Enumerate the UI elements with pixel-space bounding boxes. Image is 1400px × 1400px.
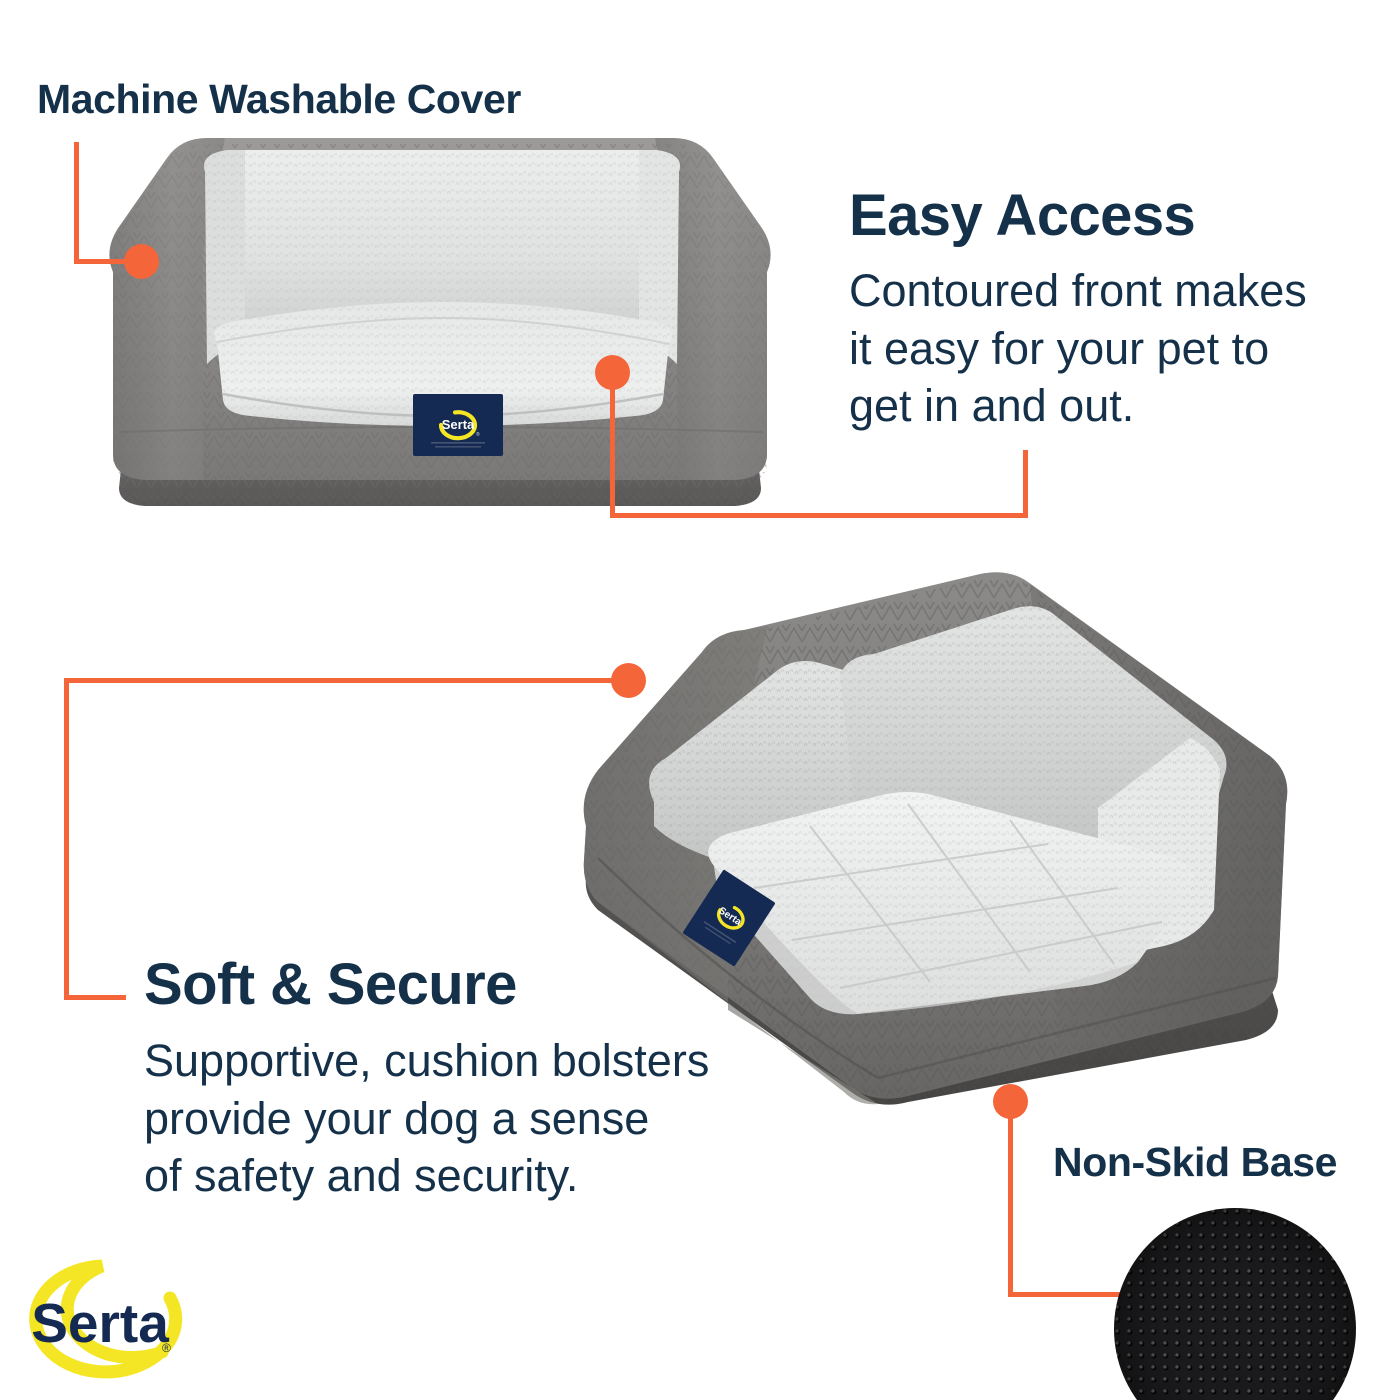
feature-title-soft-secure: Soft & Secure [144,955,517,1016]
infographic-canvas: Serta ® [0,0,1400,1400]
connector-easy-access-vertical-left [610,372,615,518]
feature-body-soft-secure: Supportive, cushion bolsters provide you… [144,1032,709,1205]
feature-body-line: of safety and security. [144,1147,709,1205]
connector-easy-access-horizontal [610,513,1028,518]
feature-title-machine-washable: Machine Washable Cover [37,78,521,121]
serta-product-tag-top: Serta ® [413,394,503,456]
connector-soft-secure-horizontal-bottom [64,995,126,1000]
feature-body-line: it easy for your pet to [849,320,1307,378]
serta-logo-wordmark: Serta [31,1292,169,1354]
connector-non-skid-vertical [1008,1101,1013,1297]
connector-machine-washable-vertical [74,142,79,264]
svg-text:®: ® [476,431,480,438]
connector-soft-secure-vertical [64,678,69,1000]
svg-text:Serta: Serta [442,417,475,432]
connector-soft-secure-horizontal-top [64,678,624,683]
non-skid-base-swatch [1114,1208,1356,1400]
feature-title-easy-access: Easy Access [849,186,1195,247]
connector-easy-access-vertical-right [1023,450,1028,518]
serta-brand-logo: Serta ® [28,1258,188,1384]
feature-body-line: Supportive, cushion bolsters [144,1032,709,1090]
feature-title-non-skid-base: Non-Skid Base [1053,1141,1337,1184]
feature-body-line: get in and out. [849,377,1307,435]
product-image-bottom-bed: Serta [578,558,1298,1110]
feature-body-line: Contoured front makes [849,262,1307,320]
feature-body-easy-access: Contoured front makes it easy for your p… [849,262,1307,435]
feature-body-line: provide your dog a sense [144,1090,709,1148]
callout-dot-machine-washable [124,244,159,279]
serta-registered-mark: ® [162,1341,171,1355]
product-image-top-bed: Serta ® [95,132,785,522]
